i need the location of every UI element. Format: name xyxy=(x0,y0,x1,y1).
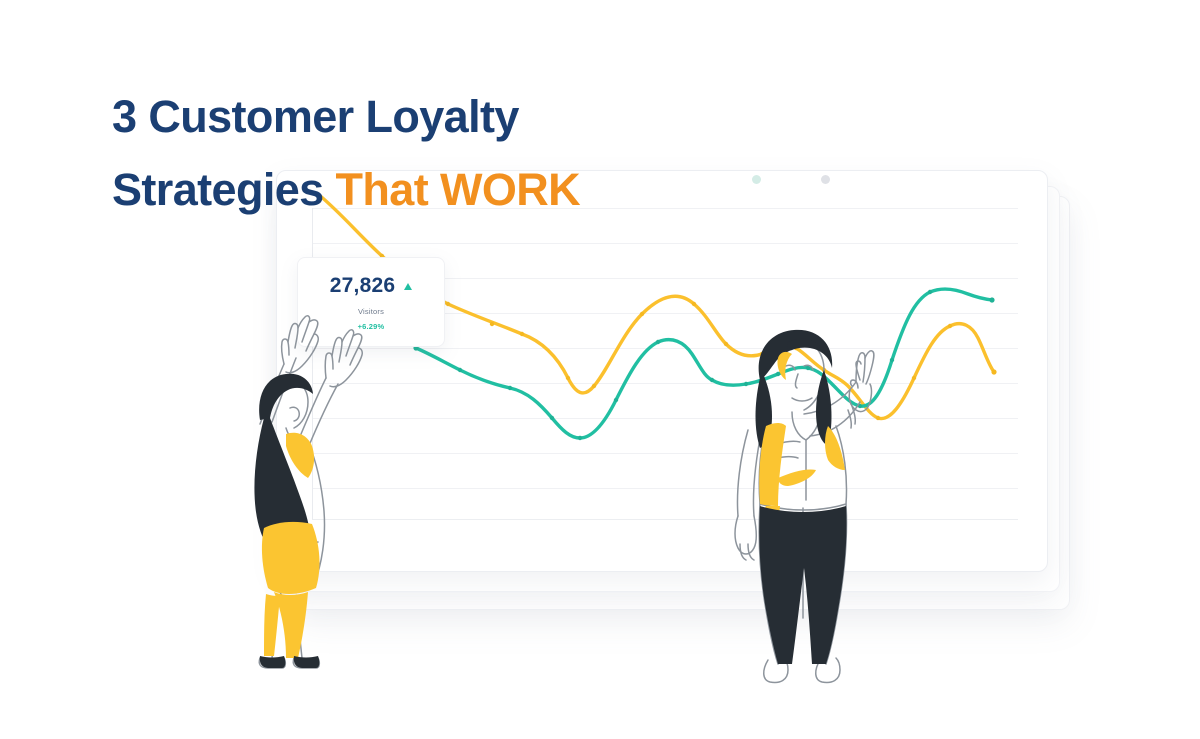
legend-dot-icon[interactable] xyxy=(821,175,830,184)
headline-text-accent: That WORK xyxy=(336,164,581,215)
headline-line-1: 3 Customer Loyalty xyxy=(112,80,772,153)
triangle-up-icon xyxy=(404,283,412,290)
woman-raising-hands-illustration xyxy=(198,296,378,681)
tooltip-value: 27,826 xyxy=(330,274,395,298)
headline: 3 Customer Loyalty Strategies That WORK xyxy=(112,80,772,226)
headline-line-2: Strategies That WORK xyxy=(112,153,772,226)
tooltip-value-row: 27,826 xyxy=(330,274,412,298)
promo-graphic: 27,826 Visitors +6.29% xyxy=(0,0,1200,739)
woman-pointing-illustration xyxy=(700,318,890,686)
headline-text-primary: 3 Customer Loyalty xyxy=(112,91,519,142)
chart-series-group xyxy=(312,208,1018,520)
headline-text-secondary: Strategies xyxy=(112,164,336,215)
